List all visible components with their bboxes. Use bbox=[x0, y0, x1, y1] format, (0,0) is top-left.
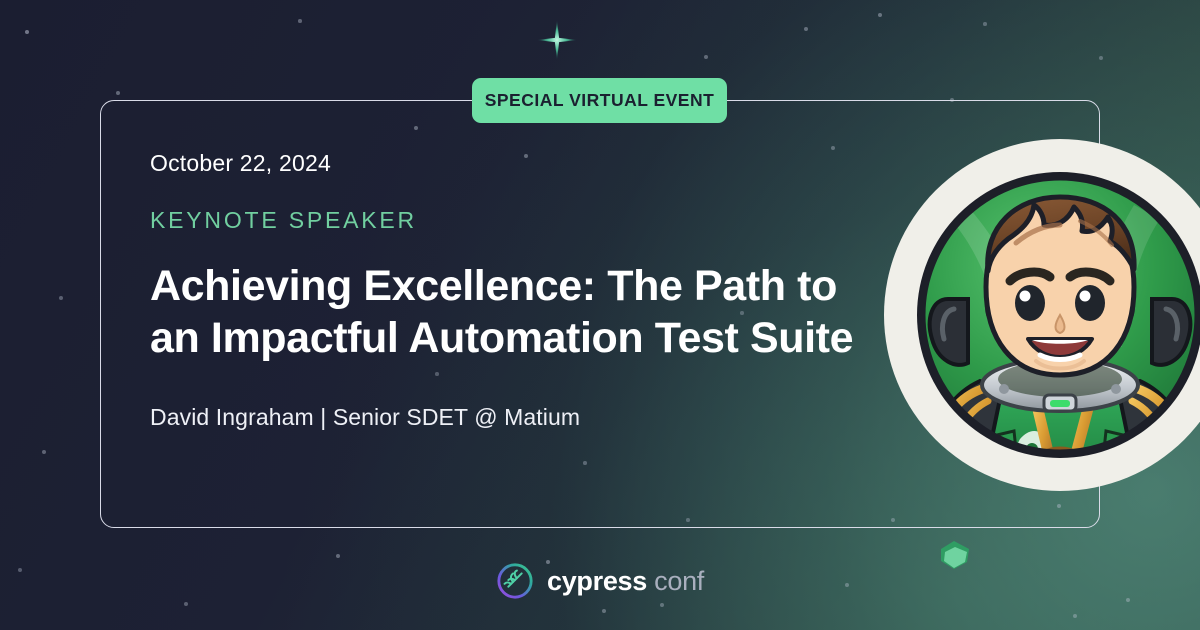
event-date: October 22, 2024 bbox=[150, 150, 880, 177]
special-event-badge: SPECIAL VIRTUAL EVENT bbox=[472, 78, 727, 123]
badge-label: SPECIAL VIRTUAL EVENT bbox=[485, 90, 715, 111]
logo-brand-primary: cypress bbox=[547, 566, 647, 596]
star-dot bbox=[660, 603, 664, 607]
star-dot bbox=[704, 55, 708, 59]
cypress-conf-logo: cypress conf bbox=[0, 562, 1200, 600]
star-dot bbox=[42, 450, 46, 454]
star-dot bbox=[116, 91, 121, 96]
logo-wordmark: cypress conf bbox=[547, 566, 704, 597]
star-dot bbox=[602, 609, 606, 613]
star-dot bbox=[1073, 614, 1077, 618]
star-dot bbox=[25, 30, 29, 34]
star-dot bbox=[983, 22, 987, 26]
star-dot bbox=[184, 602, 188, 606]
speaker-name-and-role: David Ingraham | Senior SDET @ Matium bbox=[150, 404, 880, 431]
event-details: October 22, 2024 KEYNOTE SPEAKER Achievi… bbox=[150, 150, 880, 431]
astronaut-speaker-illustration bbox=[884, 139, 1200, 491]
four-point-sparkle-icon bbox=[535, 18, 579, 62]
star-dot bbox=[298, 19, 302, 23]
avatar bbox=[884, 139, 1200, 491]
star-dot bbox=[804, 27, 808, 31]
event-promo-card: SPECIAL VIRTUAL EVENT October 22, 2024 K… bbox=[0, 0, 1200, 630]
star-dot bbox=[1099, 56, 1103, 60]
keynote-speaker-label: KEYNOTE SPEAKER bbox=[150, 207, 880, 234]
cypress-logo-icon bbox=[496, 562, 534, 600]
star-dot bbox=[336, 554, 340, 558]
star-dot bbox=[878, 13, 882, 17]
star-dot bbox=[59, 296, 63, 300]
logo-brand-secondary: conf bbox=[647, 566, 704, 596]
talk-title: Achieving Excellence: The Path to an Imp… bbox=[150, 260, 860, 364]
